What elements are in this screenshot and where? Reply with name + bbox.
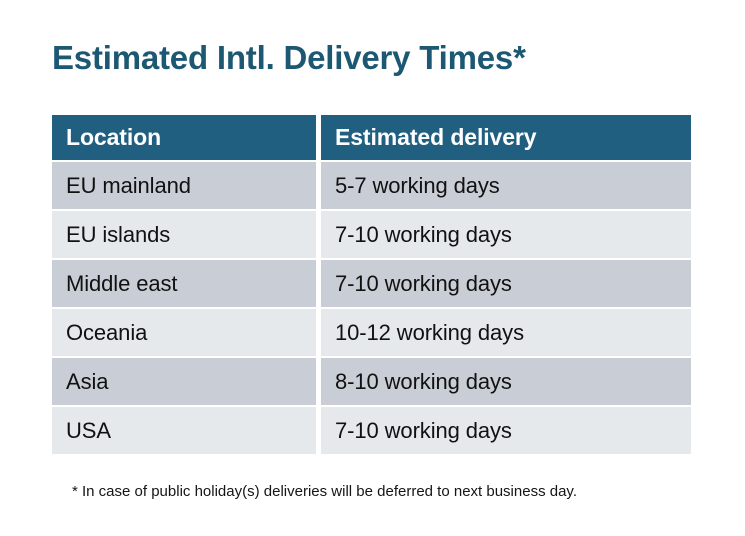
cell-estimated-delivery: 7-10 working days [321,211,691,258]
delivery-times-table: Location Estimated delivery EU mainland … [47,113,696,456]
page-title: Estimated Intl. Delivery Times* [52,36,526,80]
table-header: Location Estimated delivery [52,115,691,160]
table-row: Asia 8-10 working days [52,358,691,405]
column-header-estimated-delivery: Estimated delivery [321,115,691,160]
cell-location: Oceania [52,309,316,356]
table-header-row: Location Estimated delivery [52,115,691,160]
cell-location: Asia [52,358,316,405]
delivery-times-table-container: Location Estimated delivery EU mainland … [52,115,691,454]
table-row: Middle east 7-10 working days [52,260,691,307]
cell-estimated-delivery: 8-10 working days [321,358,691,405]
cell-location: EU islands [52,211,316,258]
cell-estimated-delivery: 7-10 working days [321,260,691,307]
cell-location: EU mainland [52,162,316,209]
table-row: USA 7-10 working days [52,407,691,454]
cell-estimated-delivery: 10-12 working days [321,309,691,356]
table-row: EU mainland 5-7 working days [52,162,691,209]
table-row: EU islands 7-10 working days [52,211,691,258]
column-header-location: Location [52,115,316,160]
table-body: EU mainland 5-7 working days EU islands … [52,162,691,454]
footnote-text: * In case of public holiday(s) deliverie… [72,481,577,503]
cell-estimated-delivery: 7-10 working days [321,407,691,454]
delivery-times-page: Estimated Intl. Delivery Times* Location… [0,0,745,536]
cell-location: Middle east [52,260,316,307]
cell-location: USA [52,407,316,454]
table-row: Oceania 10-12 working days [52,309,691,356]
cell-estimated-delivery: 5-7 working days [321,162,691,209]
